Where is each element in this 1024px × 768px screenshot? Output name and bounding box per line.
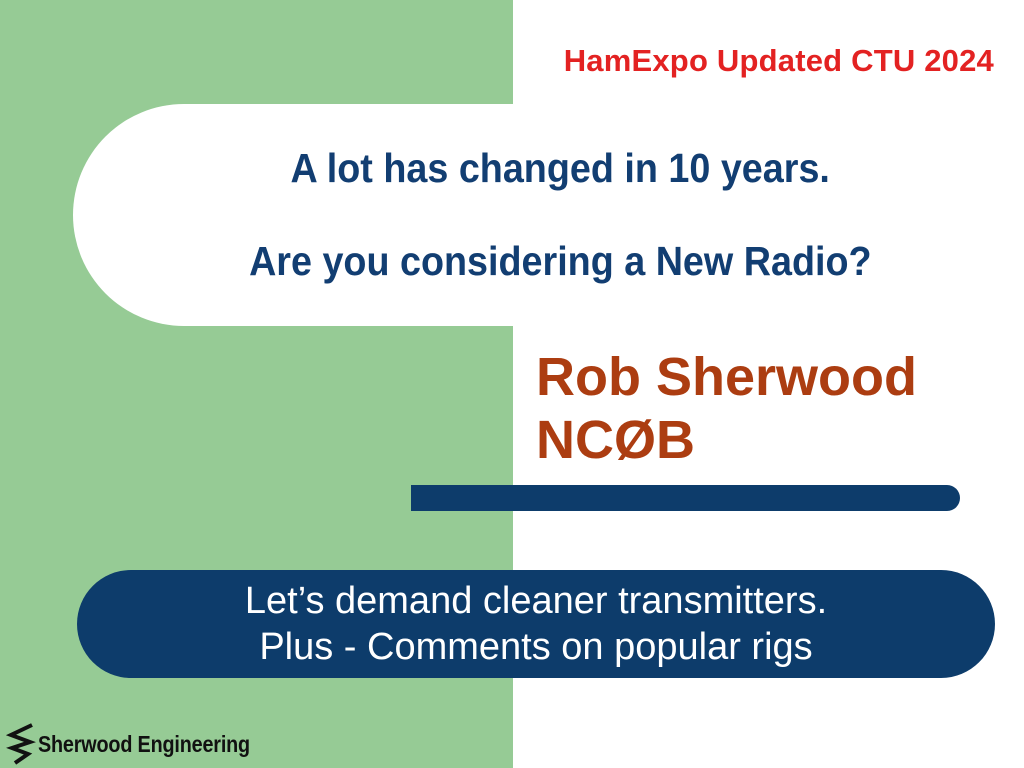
presenter-block: Rob Sherwood NCØB bbox=[536, 346, 1006, 471]
divider-bar-shape bbox=[411, 485, 960, 511]
title-line-1: A lot has changed in 10 years. bbox=[290, 147, 829, 190]
presenter-callsign: NCØB bbox=[536, 409, 1006, 472]
slide-header-label: HamExpo Updated CTU 2024 bbox=[0, 43, 994, 79]
sherwood-engineering-logo: Sherwood Engineering bbox=[6, 723, 284, 765]
sherwood-zigzag-s-icon bbox=[6, 723, 36, 765]
slide-canvas: HamExpo Updated CTU 2024 A lot has chang… bbox=[0, 0, 1024, 768]
banner-line-2: Plus - Comments on popular rigs bbox=[259, 624, 812, 670]
title-block: A lot has changed in 10 years. Are you c… bbox=[95, 104, 1024, 326]
subtitle-banner: Let’s demand cleaner transmitters. Plus … bbox=[77, 570, 995, 678]
banner-line-1: Let’s demand cleaner transmitters. bbox=[245, 578, 827, 624]
logo-text-label: Sherwood Engineering bbox=[38, 731, 250, 758]
presenter-name: Rob Sherwood bbox=[536, 347, 917, 407]
title-line-2: Are you considering a New Radio? bbox=[249, 240, 871, 283]
